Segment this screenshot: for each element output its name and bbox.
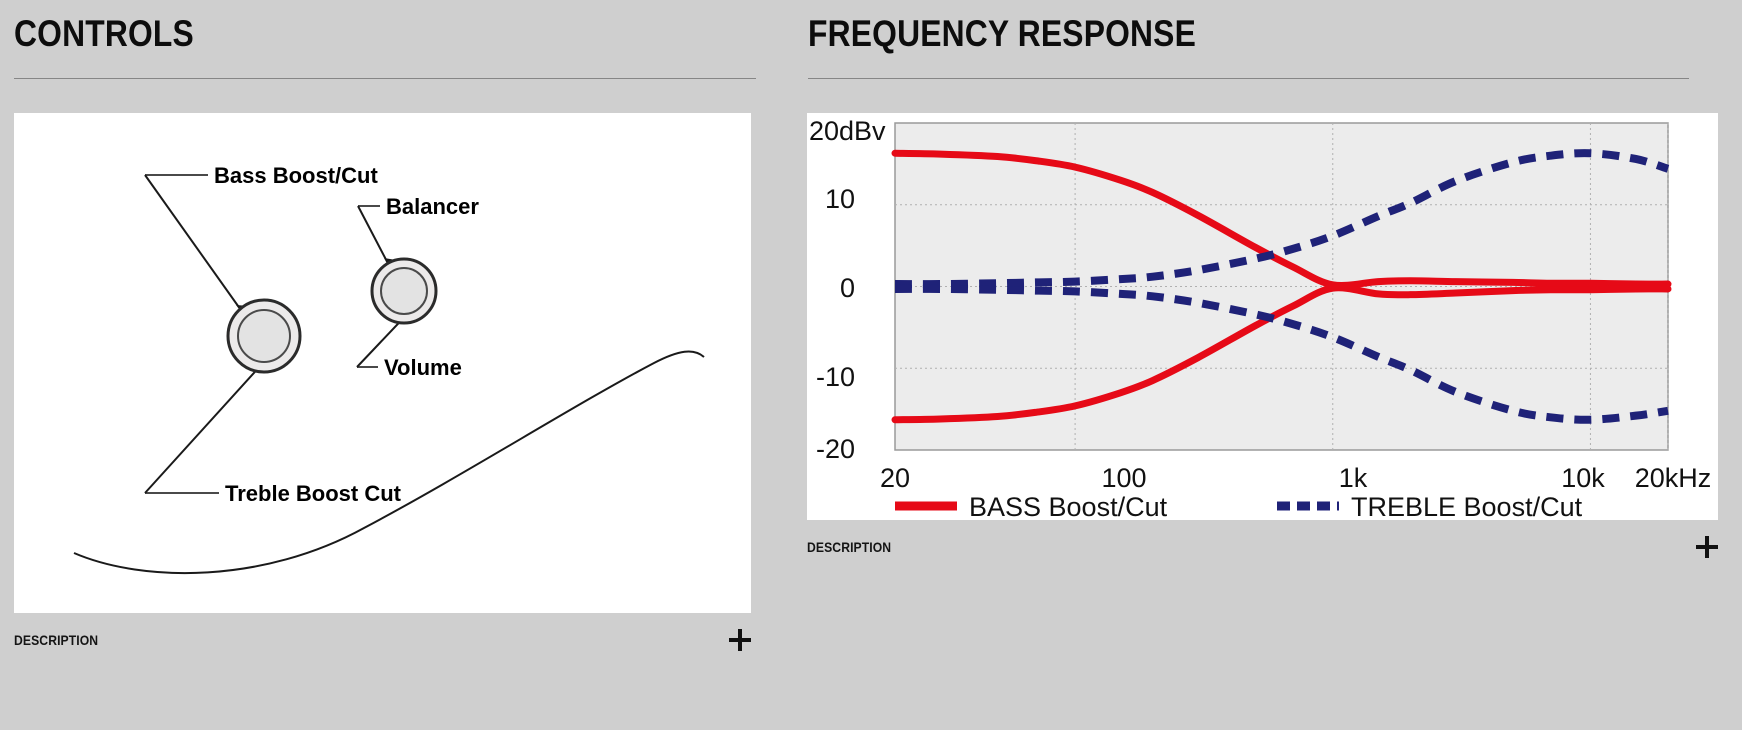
balancer-volume-knob[interactable]	[372, 259, 436, 323]
heading-divider-controls	[14, 78, 756, 79]
x-tick-label-1k: 1k	[1339, 463, 1368, 493]
controls-diagram-card: Bass Boost/Cut Balancer Volume Treble Bo…	[14, 113, 751, 613]
diagram-label-volume: Volume	[384, 355, 462, 380]
x-tick-label-100: 100	[1101, 463, 1146, 493]
panel-controls: CONTROLS	[0, 0, 794, 730]
plus-icon[interactable]	[729, 629, 751, 651]
controls-diagram: Bass Boost/Cut Balancer Volume Treble Bo…	[14, 113, 751, 613]
bass-treble-knob[interactable]	[228, 300, 300, 372]
page-root: CONTROLS	[0, 0, 1742, 730]
y-tick-label-neg10: -10	[816, 362, 855, 392]
description-label: DESCRIPTION	[807, 539, 891, 555]
page-title-frequency-response: FREQUENCY RESPONSE	[808, 0, 1591, 56]
frequency-response-chart: 20dBv 10 0 -10 -20 20 100 1k 10k 20kHz B…	[807, 113, 1718, 520]
plus-icon[interactable]	[1696, 536, 1718, 558]
y-tick-label-10: 10	[825, 184, 855, 214]
y-axis-top-label: 20dBv	[809, 116, 886, 146]
diagram-label-bass-boost-cut: Bass Boost/Cut	[214, 163, 378, 188]
y-tick-label-0: 0	[840, 273, 855, 303]
legend-label-bass: BASS Boost/Cut	[969, 492, 1168, 520]
legend-label-treble: TREBLE Boost/Cut	[1351, 492, 1583, 520]
diagram-label-treble-boost-cut: Treble Boost Cut	[225, 481, 402, 506]
x-tick-label-10k: 10k	[1561, 463, 1605, 493]
x-tick-label-20: 20	[880, 463, 910, 493]
frequency-response-chart-card: 20dBv 10 0 -10 -20 20 100 1k 10k 20kHz B…	[807, 113, 1718, 520]
chart-legend: BASS Boost/Cut TREBLE Boost/Cut	[895, 492, 1583, 520]
description-row-frequency-response[interactable]: DESCRIPTION	[807, 532, 1718, 562]
page-title-controls: CONTROLS	[14, 0, 673, 56]
leader-bass-boost-cut	[145, 175, 249, 320]
description-label: DESCRIPTION	[14, 632, 98, 648]
y-tick-label-neg20: -20	[816, 434, 855, 464]
description-row-controls[interactable]: DESCRIPTION	[14, 625, 751, 655]
x-tick-label-20khz: 20kHz	[1635, 463, 1712, 493]
heading-divider-frequency-response	[808, 78, 1689, 79]
diagram-label-balancer: Balancer	[386, 194, 479, 219]
body-outline-lower	[74, 351, 704, 573]
